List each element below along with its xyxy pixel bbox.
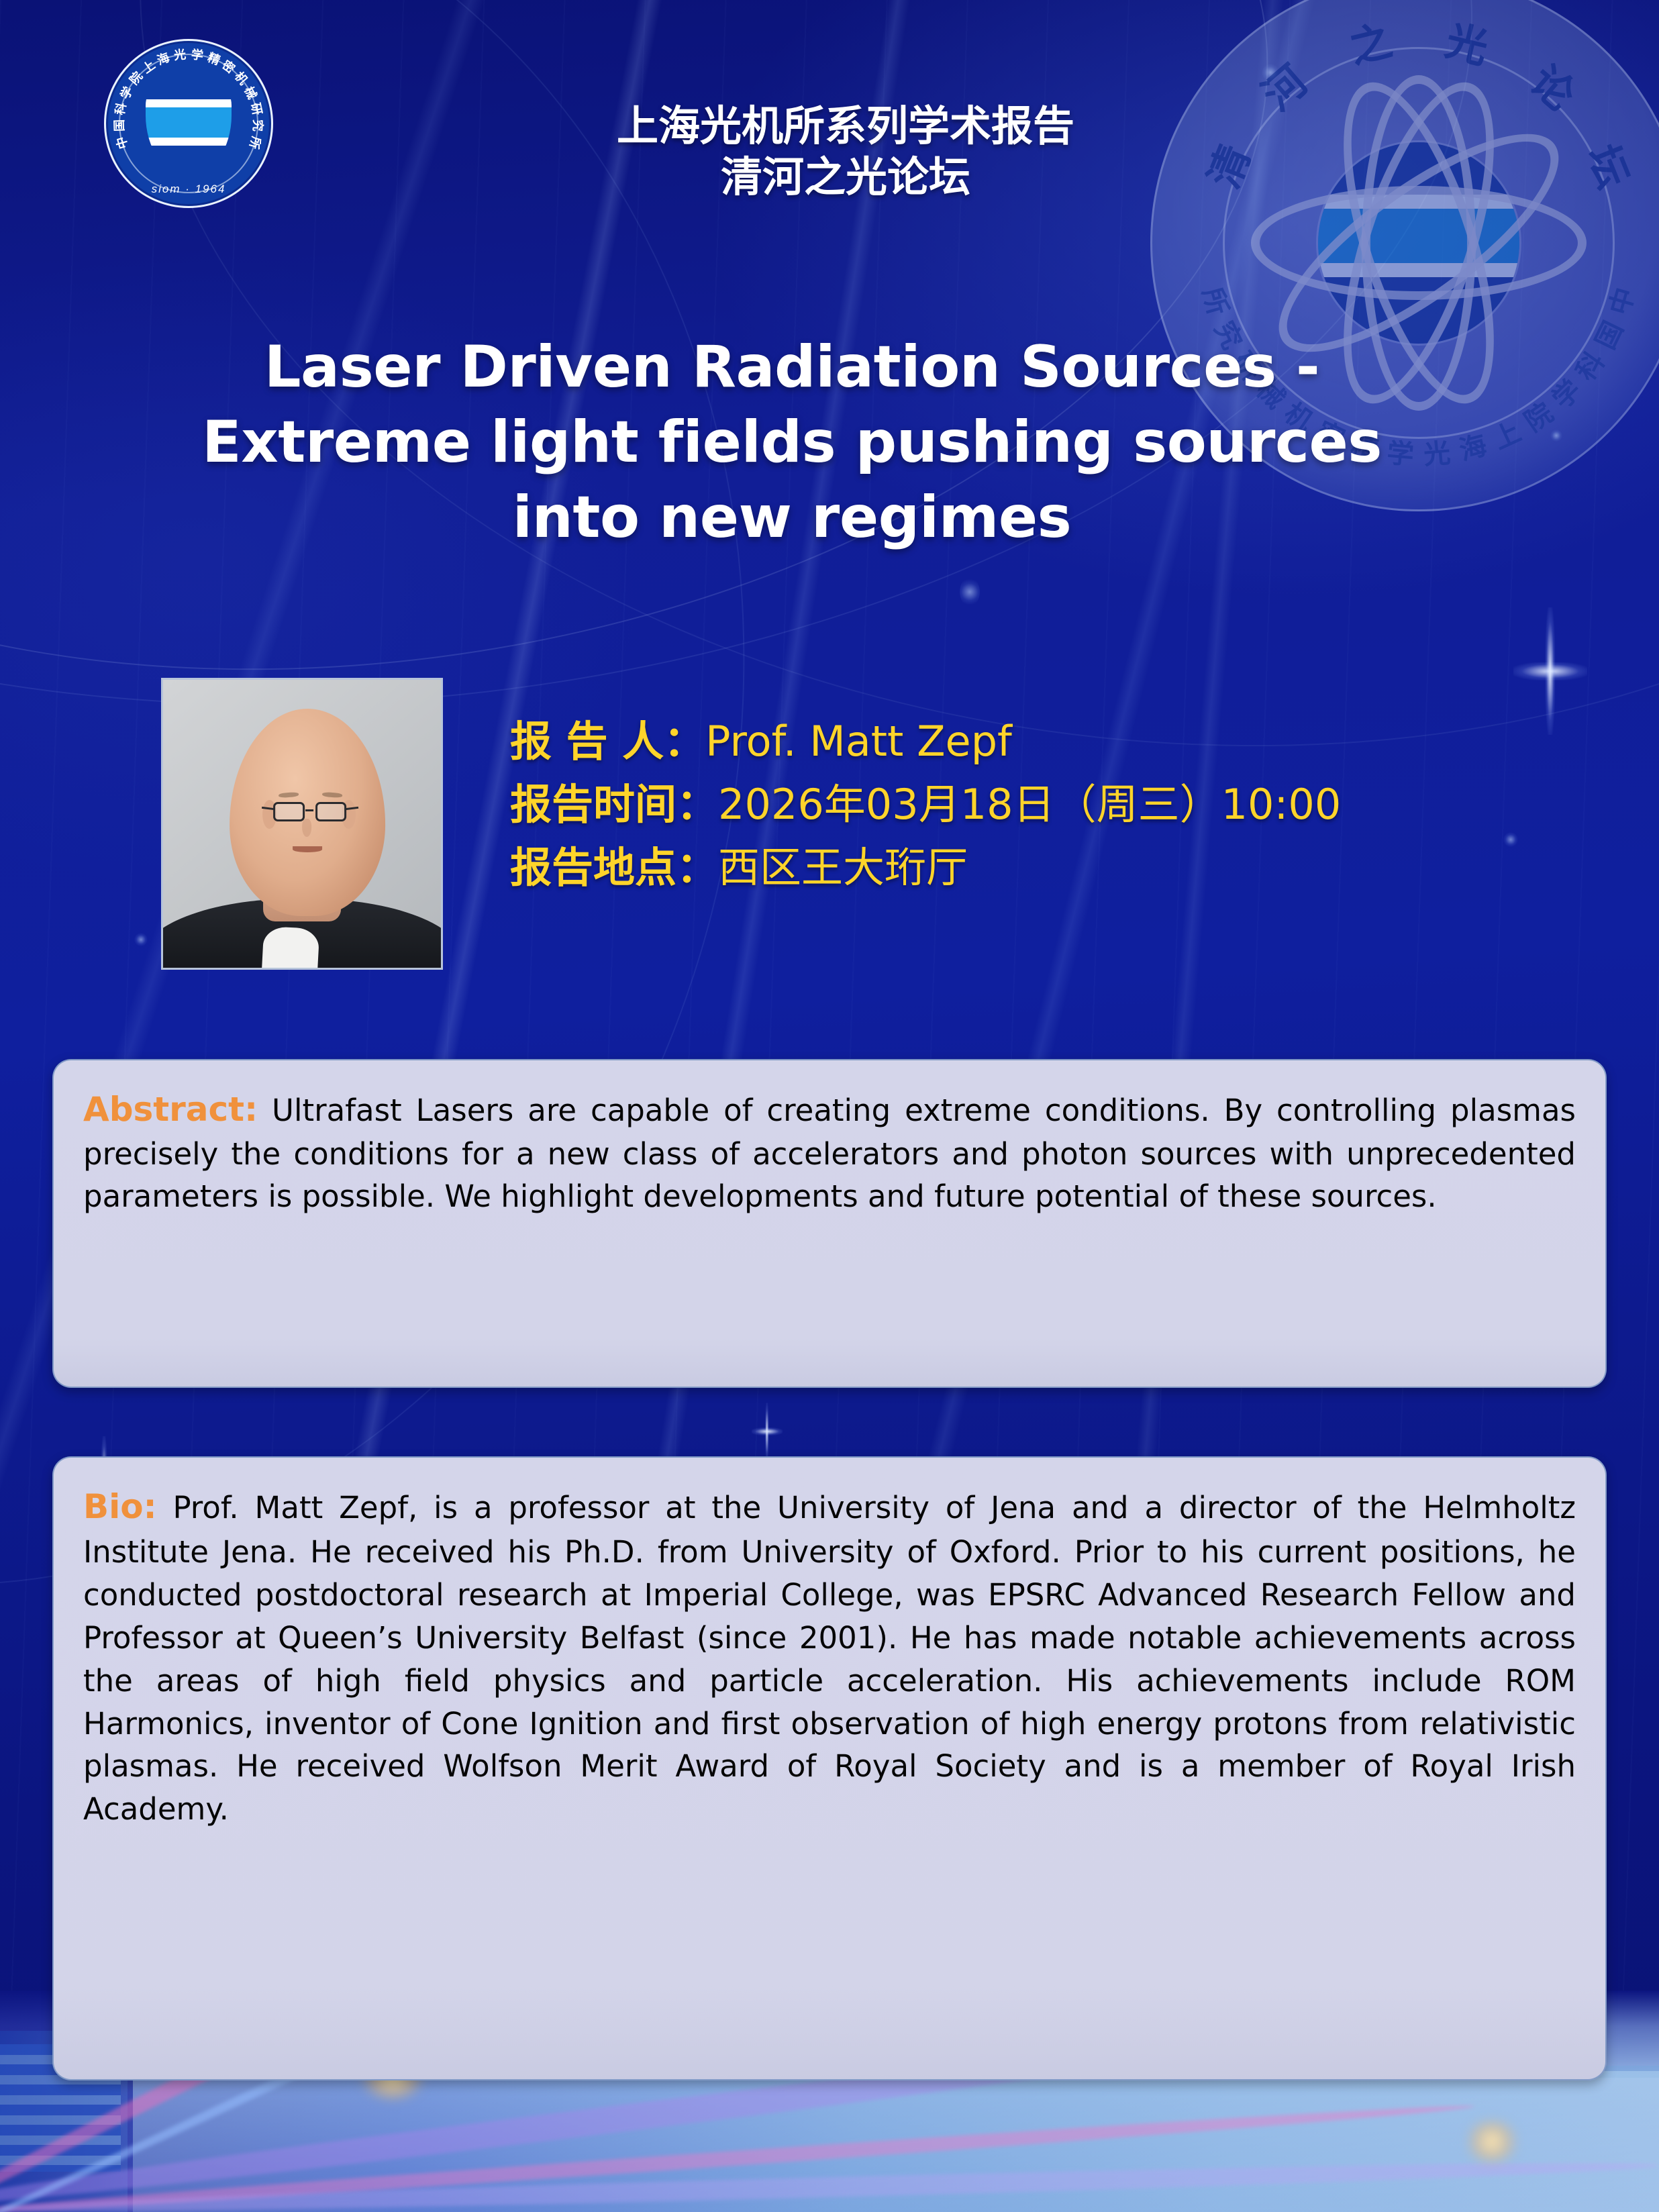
abstract-panel: Abstract: Ultrafast Lasers are capable o… — [52, 1059, 1607, 1388]
title-line-2: Extreme light fields pushing sources — [87, 405, 1497, 481]
abstract-text: Abstract: Ultrafast Lasers are capable o… — [83, 1086, 1576, 1217]
bio-panel: Bio: Prof. Matt Zepf, is a professor at … — [52, 1456, 1607, 2080]
abstract-body: Ultrafast Lasers are capable of creating… — [83, 1093, 1576, 1214]
speaker-place-label: 报告地点： — [510, 843, 718, 892]
eyeglasses-icon — [273, 802, 304, 821]
speaker-photo — [161, 678, 443, 970]
series-header: 上海光机所系列学术报告 清河之光论坛 — [510, 101, 1181, 202]
seminar-poster: SHANGHAI INSTITUTE OF OPTICS AND FINE ME… — [0, 0, 1659, 2212]
bio-text: Bio: Prof. Matt Zepf, is a professor at … — [83, 1483, 1576, 1831]
speaker-place-value: 西区王大珩厅 — [718, 843, 968, 892]
speaker-place-row: 报告地点：西区王大珩厅 — [510, 836, 1557, 899]
bio-body: Prof. Matt Zepf, is a professor at the U… — [83, 1490, 1576, 1827]
speaker-name-value: Prof. Matt Zepf — [705, 717, 1012, 766]
glow-dot-4 — [960, 577, 980, 607]
siom-logo-year-text: siom · 1964 — [152, 183, 226, 196]
series-line-1: 上海光机所系列学术报告 — [510, 101, 1181, 152]
speaker-time-label: 报告时间： — [510, 780, 718, 829]
glow-dot-2 — [134, 933, 148, 946]
abstract-label: Abstract: — [83, 1090, 258, 1129]
speaker-info: 报 告 人：Prof. Matt Zepf 报告时间：2026年03月18日（周… — [510, 710, 1557, 900]
title-line-3: into new regimes — [87, 481, 1497, 556]
sparkle-4 — [752, 1403, 783, 1460]
title-line-1: Laser Driven Radiation Sources - — [87, 330, 1497, 405]
bio-label: Bio: — [83, 1487, 157, 1526]
speaker-time-value: 2026年03月18日（周三）10:00 — [718, 780, 1341, 829]
speaker-time-row: 报告时间：2026年03月18日（周三）10:00 — [510, 773, 1557, 836]
page-title: Laser Driven Radiation Sources - Extreme… — [87, 330, 1497, 555]
siom-logo: 中国科学院上海光学精密机械研究所 siom · 1964 — [104, 39, 273, 208]
speaker-name-label: 报 告 人： — [510, 717, 705, 766]
series-line-2: 清河之光论坛 — [510, 152, 1181, 203]
speaker-name-row: 报 告 人：Prof. Matt Zepf — [510, 710, 1557, 773]
